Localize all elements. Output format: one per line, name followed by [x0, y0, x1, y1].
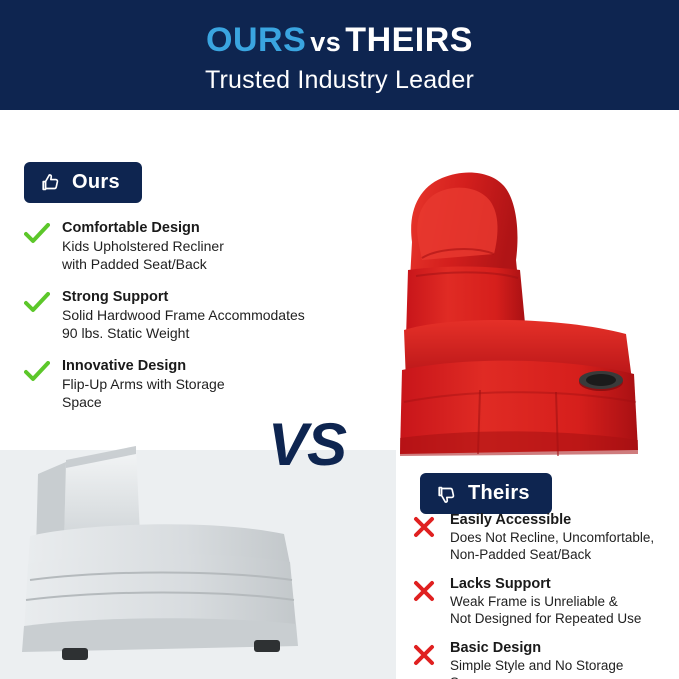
title-vs: vs [306, 27, 345, 57]
comparison-infographic: OURSvsTHEIRS Trusted Industry Leader [0, 0, 679, 679]
feature-title: Innovative Design [62, 358, 225, 375]
ours-feature-list: Comfortable Design Kids Upholstered Recl… [24, 220, 394, 427]
feature-title: Easily Accessible [450, 512, 654, 529]
ours-badge: Ours [24, 162, 142, 203]
feature-desc: Kids Upholstered Recliner with Padded Se… [62, 238, 224, 273]
thumbs-up-icon [40, 172, 62, 194]
feature-item: Comfortable Design Kids Upholstered Recl… [24, 220, 394, 273]
feature-desc: Simple Style and No Storage Space [450, 658, 623, 679]
green-check-icon [24, 289, 50, 319]
feature-item: Basic Design Simple Style and No Storage… [412, 640, 678, 679]
feature-item: Innovative Design Flip-Up Arms with Stor… [24, 358, 394, 411]
green-check-icon [24, 358, 50, 388]
feature-desc: Solid Hardwood Frame Accommodates 90 lbs… [62, 307, 305, 342]
vs-divider: VS [268, 415, 346, 475]
theirs-badge-label: Theirs [468, 482, 530, 505]
title-theirs: THEIRS [345, 21, 473, 59]
theirs-feature-list: Easily Accessible Does Not Recline, Unco… [412, 512, 678, 679]
green-check-icon [24, 220, 50, 250]
page-title: OURSvsTHEIRS [0, 0, 679, 62]
feature-title: Strong Support [62, 289, 305, 306]
thumbs-down-icon [436, 483, 458, 505]
feature-desc: Does Not Recline, Uncomfortable, Non-Pad… [450, 530, 654, 563]
feature-desc: Flip-Up Arms with Storage Space [62, 376, 225, 411]
ours-section: Ours Comfortable Design Kids Upholstered… [0, 110, 679, 450]
header-banner: OURSvsTHEIRS Trusted Industry Leader [0, 0, 679, 110]
page-subtitle: Trusted Industry Leader [0, 62, 679, 95]
feature-item: Lacks Support Weak Frame is Unreliable &… [412, 576, 678, 627]
red-recliner-image [388, 120, 678, 470]
feature-item: Easily Accessible Does Not Recline, Unco… [412, 512, 678, 563]
red-x-icon [412, 512, 438, 544]
red-x-icon [412, 640, 438, 672]
red-x-icon [412, 576, 438, 608]
feature-title: Comfortable Design [62, 220, 224, 237]
feature-title: Basic Design [450, 640, 623, 657]
ours-badge-label: Ours [72, 171, 120, 194]
theirs-badge: Theirs [420, 473, 552, 514]
title-ours: OURS [206, 21, 306, 59]
feature-item: Strong Support Solid Hardwood Frame Acco… [24, 289, 394, 342]
feature-title: Lacks Support [450, 576, 641, 593]
feature-desc: Weak Frame is Unreliable & Not Designed … [450, 594, 641, 627]
